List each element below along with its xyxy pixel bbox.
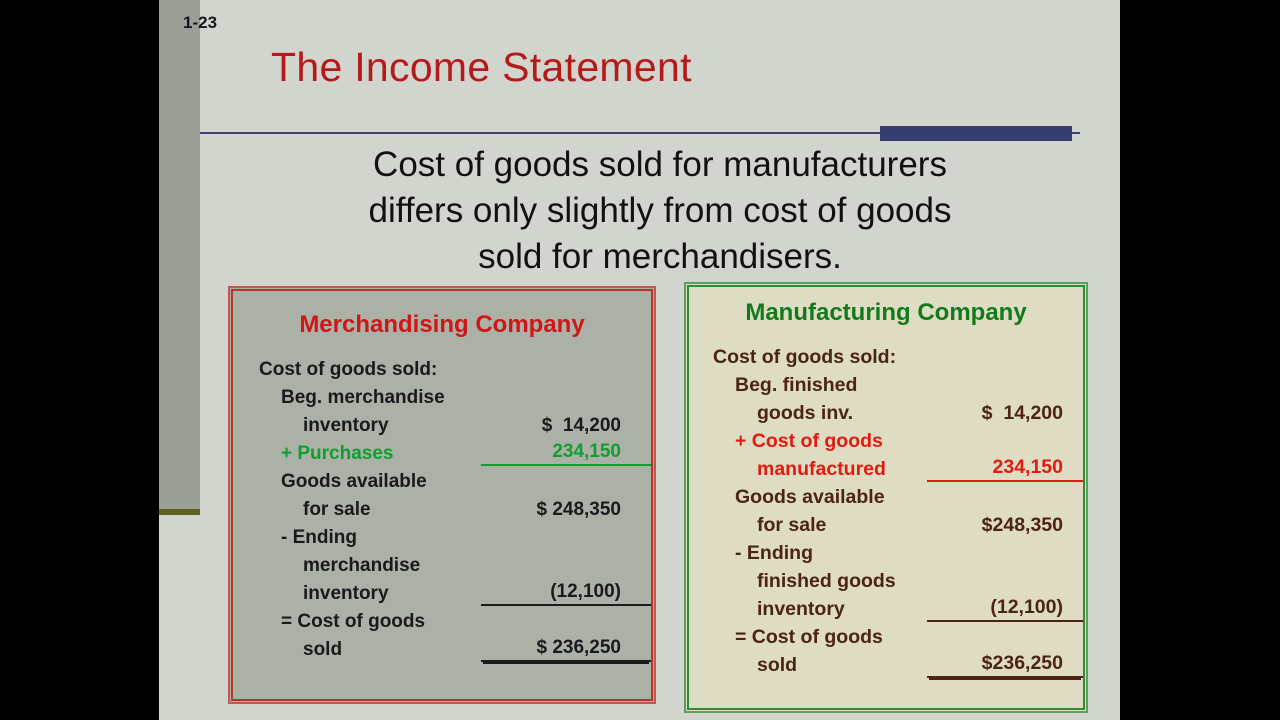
table-row: Beg. merchandise: [233, 381, 651, 409]
row-label-text: finished goods: [757, 570, 896, 593]
left-decorative-olive-bar: [159, 509, 200, 515]
row-label-text: Goods available: [281, 471, 427, 493]
table-row: + Purchases234,150: [233, 437, 651, 465]
table-row: finished goods: [689, 565, 1083, 593]
row-value: [481, 465, 651, 493]
row-label: Beg. finished: [689, 369, 927, 397]
row-label: Goods available: [689, 481, 927, 509]
row-value: 234,150: [927, 453, 1083, 481]
table-row: sold$ 236,250: [233, 633, 651, 661]
row-value: $ 248,350: [481, 493, 651, 521]
manufacturing-company-panel: Manufacturing Company Cost of goods sold…: [684, 282, 1088, 713]
row-value: 234,150: [481, 437, 651, 465]
row-label-text: inventory: [303, 415, 389, 437]
table-row: - Ending: [689, 537, 1083, 565]
row-value: [481, 381, 651, 409]
row-label: - Ending: [689, 537, 927, 565]
merchandising-company-header: Merchandising Company: [233, 311, 651, 339]
row-value: $248,350: [927, 509, 1083, 537]
row-label-text: - Ending: [281, 527, 357, 549]
row-label: manufactured: [689, 453, 927, 481]
row-value: [927, 537, 1083, 565]
row-value: [481, 521, 651, 549]
table-row: Beg. finished: [689, 369, 1083, 397]
manufacturing-company-header: Manufacturing Company: [689, 299, 1083, 327]
row-value: [927, 425, 1083, 453]
row-label-text: Goods available: [735, 486, 885, 509]
statement-text: Cost of goods sold for manufacturers dif…: [200, 142, 1120, 280]
row-value: $236,250: [927, 649, 1083, 677]
row-label-text: inventory: [303, 583, 389, 605]
row-value: $ 14,200: [927, 397, 1083, 425]
row-label-text: goods inv.: [757, 402, 853, 425]
row-label: + Purchases: [233, 437, 481, 465]
table-row: inventory(12,100): [689, 593, 1083, 621]
row-value: [481, 549, 651, 577]
row-value: [927, 481, 1083, 509]
table-row: for sale$248,350: [689, 509, 1083, 537]
table-row: inventory(12,100): [233, 577, 651, 605]
row-value: [927, 565, 1083, 593]
row-label: + Cost of goods: [689, 425, 927, 453]
row-label-text: Beg. finished: [735, 374, 857, 397]
merchandising-cogs-table: Cost of goods sold:Beg. merchandiseinven…: [233, 353, 651, 662]
row-value: (12,100): [481, 577, 651, 605]
table-row: for sale$ 248,350: [233, 493, 651, 521]
page-title: The Income Statement: [271, 44, 692, 91]
table-row: - Ending: [233, 521, 651, 549]
table-row: manufactured234,150: [689, 453, 1083, 481]
statement-line: sold for merchandisers.: [200, 234, 1120, 280]
table-row: inventory$ 14,200: [233, 409, 651, 437]
row-label: Cost of goods sold:: [689, 341, 927, 369]
row-label: inventory: [233, 409, 481, 437]
row-label-text: = Cost of goods: [281, 611, 425, 633]
row-value: [481, 353, 651, 381]
row-label-text: merchandise: [303, 555, 420, 577]
row-label: goods inv.: [689, 397, 927, 425]
table-row: Cost of goods sold:: [233, 353, 651, 381]
table-row: Goods available: [233, 465, 651, 493]
row-label: = Cost of goods: [689, 621, 927, 649]
row-label-text: Cost of goods sold:: [713, 346, 896, 368]
row-value: $ 14,200: [481, 409, 651, 437]
row-label-text: manufactured: [757, 458, 886, 481]
row-label-text: + Purchases: [281, 443, 394, 465]
table-row: = Cost of goods: [689, 621, 1083, 649]
merchandising-company-panel: Merchandising Company Cost of goods sold…: [228, 286, 656, 704]
table-row: + Cost of goods: [689, 425, 1083, 453]
row-label: inventory: [689, 593, 927, 621]
row-label-text: sold: [303, 639, 342, 661]
table-row: goods inv.$ 14,200: [689, 397, 1083, 425]
row-label-text: + Cost of goods: [735, 430, 883, 453]
row-label-text: inventory: [757, 598, 845, 621]
row-label: finished goods: [689, 565, 927, 593]
table-row: merchandise: [233, 549, 651, 577]
row-label-text: for sale: [303, 499, 371, 521]
row-label-text: = Cost of goods: [735, 626, 883, 649]
row-label: for sale: [689, 509, 927, 537]
row-label: for sale: [233, 493, 481, 521]
table-row: Cost of goods sold:: [689, 341, 1083, 369]
statement-line: Cost of goods sold for manufacturers: [200, 142, 1120, 188]
left-decorative-strip: [159, 0, 200, 509]
row-label: - Ending: [233, 521, 481, 549]
row-label: sold: [689, 649, 927, 677]
slide-root: 1-23 The Income Statement Cost of goods …: [0, 0, 1280, 720]
row-value: [481, 605, 651, 633]
row-label-text: Beg. merchandise: [281, 387, 445, 409]
title-divider-accent-block: [880, 126, 1072, 141]
row-value: $ 236,250: [481, 633, 651, 661]
row-label: sold: [233, 633, 481, 661]
table-row: Goods available: [689, 481, 1083, 509]
slide-number: 1-23: [183, 13, 217, 33]
table-row: sold$236,250: [689, 649, 1083, 677]
row-label: Beg. merchandise: [233, 381, 481, 409]
row-label: inventory: [233, 577, 481, 605]
row-value: [927, 369, 1083, 397]
row-label-text: sold: [757, 654, 797, 677]
row-label: = Cost of goods: [233, 605, 481, 633]
row-label: merchandise: [233, 549, 481, 577]
row-value: [927, 341, 1083, 369]
row-value: (12,100): [927, 593, 1083, 621]
slide-canvas: 1-23 The Income Statement Cost of goods …: [159, 0, 1120, 720]
row-label: Cost of goods sold:: [233, 353, 481, 381]
row-label: Goods available: [233, 465, 481, 493]
row-label-text: - Ending: [735, 542, 813, 565]
table-row: = Cost of goods: [233, 605, 651, 633]
row-label-text: Cost of goods sold:: [259, 359, 437, 380]
manufacturing-cogs-table: Cost of goods sold:Beg. finishedgoods in…: [689, 341, 1083, 678]
row-value: [927, 621, 1083, 649]
statement-line: differs only slightly from cost of goods: [200, 188, 1120, 234]
row-label-text: for sale: [757, 514, 826, 537]
